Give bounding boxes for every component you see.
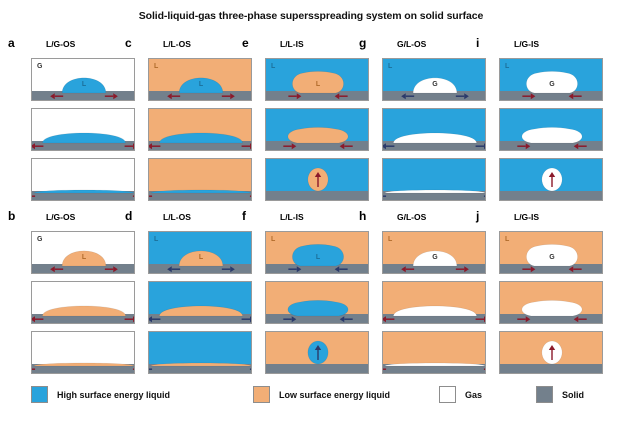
panel-letter-e: e <box>242 36 249 50</box>
panel-e-stage-1: LL <box>265 58 369 101</box>
droplet-phase-label: L <box>266 81 369 88</box>
droplet-diagram <box>383 232 486 274</box>
panel-title-j: L/G-IS <box>514 212 539 222</box>
panel-letter-g: g <box>359 36 366 50</box>
panel-letter-i: i <box>476 36 479 50</box>
medium-phase-label: L <box>388 236 392 243</box>
droplet-diagram <box>266 109 369 151</box>
gas-swatch <box>439 386 456 403</box>
droplet-diagram <box>500 332 603 374</box>
panel-letter-c: c <box>125 36 132 50</box>
droplet-phase-label: L <box>149 254 252 261</box>
medium-phase-label: L <box>388 63 392 70</box>
panel-title-a: L/G-OS <box>46 39 75 49</box>
panel-c: cL/L-OSLL <box>125 36 255 208</box>
droplet-phase-label: L <box>32 81 135 88</box>
medium-phase-label: L <box>154 63 158 70</box>
droplet-diagram <box>32 232 135 274</box>
medium-phase-label: L <box>505 63 509 70</box>
droplet-diagram <box>149 232 252 274</box>
panel-f-stage-1: LL <box>265 231 369 274</box>
droplet-diagram <box>149 332 252 374</box>
panel-f-stage-2 <box>265 281 369 324</box>
droplet-diagram <box>149 109 252 151</box>
droplet-phase-label: L <box>32 254 135 261</box>
panel-h-stage-3 <box>382 331 486 374</box>
panel-j-stage-3 <box>499 331 603 374</box>
panel-c-stage-3 <box>148 158 252 201</box>
droplet-diagram <box>500 59 603 101</box>
droplet-diagram <box>32 159 135 201</box>
panel-a-stage-1: GL <box>31 58 135 101</box>
panel-g-stage-3 <box>382 158 486 201</box>
legend-item-0: High surface energy liquid <box>31 386 170 403</box>
droplet-diagram <box>500 282 603 324</box>
panel-g: gG/L-OSLG <box>359 36 489 208</box>
high-energy-liquid-swatch <box>31 386 48 403</box>
droplet-diagram <box>266 232 369 274</box>
panel-letter-h: h <box>359 209 366 223</box>
droplet-diagram <box>500 232 603 274</box>
panel-j-stage-2 <box>499 281 603 324</box>
panel-b-stage-1: GL <box>31 231 135 274</box>
panel-e-stage-2 <box>265 108 369 151</box>
panel-h-stage-1: LG <box>382 231 486 274</box>
panel-title-i: L/G-IS <box>514 39 539 49</box>
droplet-diagram <box>32 109 135 151</box>
droplet-diagram <box>32 282 135 324</box>
panel-i-stage-3 <box>499 158 603 201</box>
panel-i: iL/G-ISLG <box>476 36 606 208</box>
figure-legend: High surface energy liquidLow surface en… <box>31 378 591 412</box>
panel-g-stage-2 <box>382 108 486 151</box>
panel-title-g: G/L-OS <box>397 39 426 49</box>
droplet-diagram <box>383 159 486 201</box>
panel-d-stage-3 <box>148 331 252 374</box>
droplet-phase-label: G <box>383 81 486 88</box>
panel-b: bL/G-OSGL <box>8 209 138 381</box>
panel-letter-a: a <box>8 36 15 50</box>
panel-letter-d: d <box>125 209 132 223</box>
panel-b-stage-2 <box>31 281 135 324</box>
droplet-diagram <box>149 159 252 201</box>
panel-title-b: L/G-OS <box>46 212 75 222</box>
droplet-diagram <box>32 332 135 374</box>
panel-h: hG/L-OSLG <box>359 209 489 381</box>
droplet-diagram <box>149 59 252 101</box>
panel-j: jL/G-ISLG <box>476 209 606 381</box>
droplet-phase-label: L <box>149 81 252 88</box>
droplet-diagram <box>383 332 486 374</box>
panel-d-stage-1: LL <box>148 231 252 274</box>
panel-h-stage-2 <box>382 281 486 324</box>
panel-b-stage-3 <box>31 331 135 374</box>
panel-title-c: L/L-OS <box>163 39 191 49</box>
droplet-diagram <box>149 282 252 324</box>
legend-label-2: Gas <box>465 390 482 400</box>
panel-c-stage-2 <box>148 108 252 151</box>
legend-label-0: High surface energy liquid <box>57 390 170 400</box>
droplet-diagram <box>266 332 369 374</box>
medium-phase-label: G <box>37 236 42 243</box>
medium-phase-label: L <box>505 236 509 243</box>
figure-title: Solid-liquid-gas three-phase superssprea… <box>0 10 622 22</box>
panel-f: fL/L-ISLL <box>242 209 372 381</box>
droplet-diagram <box>266 282 369 324</box>
figure-root: Solid-liquid-gas three-phase superssprea… <box>0 0 622 428</box>
panel-e-stage-3 <box>265 158 369 201</box>
droplet-phase-label: G <box>500 254 603 261</box>
panel-letter-f: f <box>242 209 246 223</box>
medium-phase-label: L <box>271 236 275 243</box>
panel-d-stage-2 <box>148 281 252 324</box>
legend-item-1: Low surface energy liquid <box>253 386 390 403</box>
solid-swatch <box>536 386 553 403</box>
panel-title-h: G/L-OS <box>397 212 426 222</box>
panel-c-stage-1: LL <box>148 58 252 101</box>
legend-item-2: Gas <box>439 386 482 403</box>
droplet-diagram <box>500 109 603 151</box>
panel-i-stage-2 <box>499 108 603 151</box>
droplet-diagram <box>383 109 486 151</box>
legend-label-3: Solid <box>562 390 584 400</box>
panel-a: aL/G-OSGL <box>8 36 138 208</box>
legend-label-1: Low surface energy liquid <box>279 390 390 400</box>
medium-phase-label: L <box>154 236 158 243</box>
droplet-diagram <box>500 159 603 201</box>
droplet-phase-label: L <box>266 254 369 261</box>
medium-phase-label: G <box>37 63 42 70</box>
panel-a-stage-3 <box>31 158 135 201</box>
panel-a-stage-2 <box>31 108 135 151</box>
droplet-diagram <box>266 159 369 201</box>
droplet-diagram <box>266 59 369 101</box>
droplet-diagram <box>383 59 486 101</box>
panel-letter-b: b <box>8 209 15 223</box>
droplet-phase-label: G <box>383 254 486 261</box>
panel-title-d: L/L-OS <box>163 212 191 222</box>
panel-g-stage-1: LG <box>382 58 486 101</box>
panel-f-stage-3 <box>265 331 369 374</box>
panel-letter-j: j <box>476 209 479 223</box>
panel-d: dL/L-OSLL <box>125 209 255 381</box>
panel-title-e: L/L-IS <box>280 39 304 49</box>
panel-i-stage-1: LG <box>499 58 603 101</box>
droplet-phase-label: G <box>500 81 603 88</box>
droplet-diagram <box>383 282 486 324</box>
medium-phase-label: L <box>271 63 275 70</box>
legend-item-3: Solid <box>536 386 584 403</box>
droplet-diagram <box>32 59 135 101</box>
panel-j-stage-1: LG <box>499 231 603 274</box>
low-energy-liquid-swatch <box>253 386 270 403</box>
panel-e: eL/L-ISLL <box>242 36 372 208</box>
panel-title-f: L/L-IS <box>280 212 304 222</box>
